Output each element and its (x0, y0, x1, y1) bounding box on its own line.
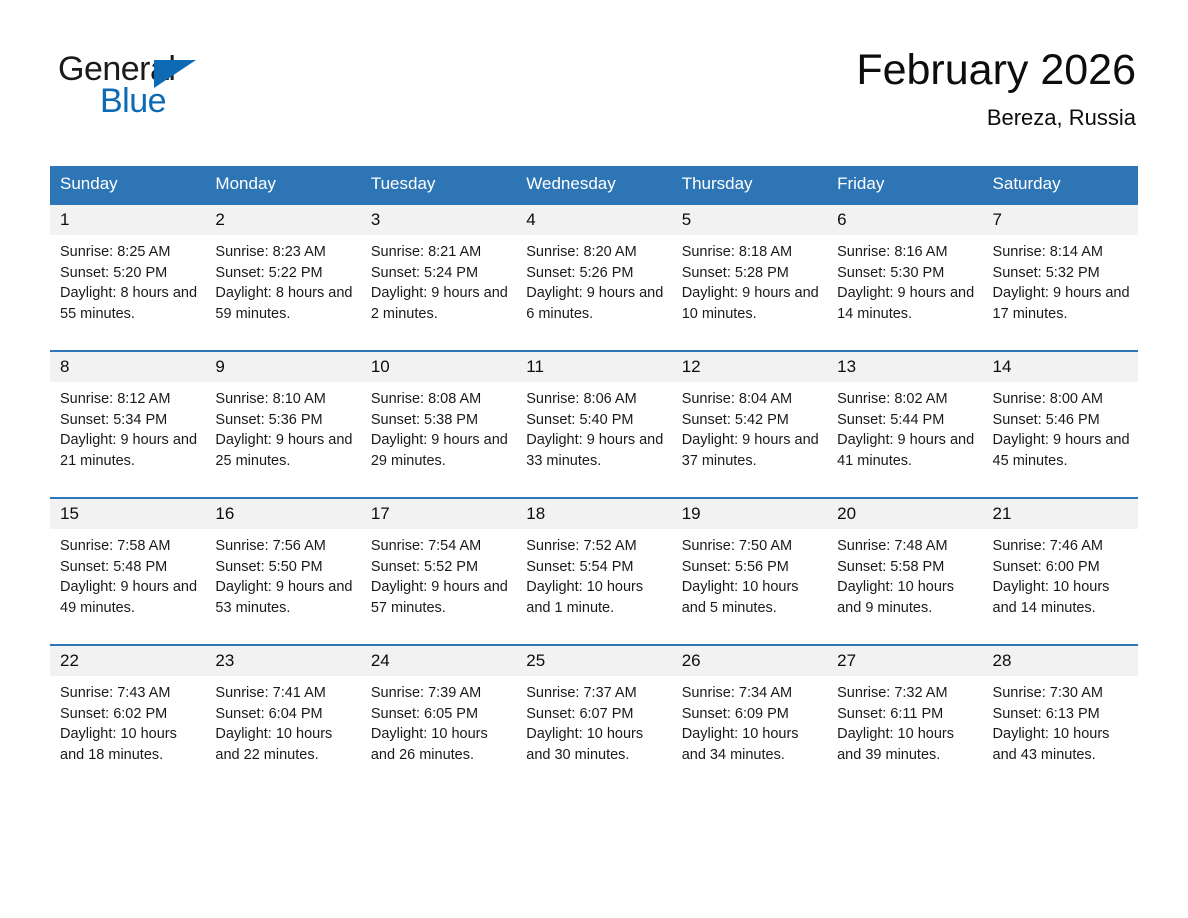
day-number: 7 (983, 205, 1138, 235)
daylight-text: Daylight: 10 hours and 43 minutes. (993, 724, 1130, 765)
calendar-week-row: 1 Sunrise: 8:25 AM Sunset: 5:20 PM Dayli… (50, 204, 1138, 351)
sunrise-text: Sunrise: 7:58 AM (60, 536, 197, 557)
daylight-text: Daylight: 10 hours and 39 minutes. (837, 724, 974, 765)
sunrise-text: Sunrise: 8:21 AM (371, 242, 508, 263)
day-details: Sunrise: 8:14 AM Sunset: 5:32 PM Dayligh… (983, 235, 1138, 324)
day-number: 12 (672, 352, 827, 382)
sunrise-text: Sunrise: 8:14 AM (993, 242, 1130, 263)
day-details: Sunrise: 7:46 AM Sunset: 6:00 PM Dayligh… (983, 529, 1138, 618)
sunrise-text: Sunrise: 8:02 AM (837, 389, 974, 410)
day-cell[interactable]: 7 Sunrise: 8:14 AM Sunset: 5:32 PM Dayli… (983, 204, 1138, 351)
daylight-text: Daylight: 9 hours and 21 minutes. (60, 430, 197, 471)
daylight-text: Daylight: 10 hours and 5 minutes. (682, 577, 819, 618)
day-cell[interactable]: 27 Sunrise: 7:32 AM Sunset: 6:11 PM Dayl… (827, 645, 982, 791)
calendar-header-row: Sunday Monday Tuesday Wednesday Thursday… (50, 166, 1138, 204)
sunrise-text: Sunrise: 7:43 AM (60, 683, 197, 704)
daylight-text: Daylight: 9 hours and 57 minutes. (371, 577, 508, 618)
day-number: 23 (205, 646, 360, 676)
day-number: 3 (361, 205, 516, 235)
day-details: Sunrise: 8:10 AM Sunset: 5:36 PM Dayligh… (205, 382, 360, 471)
day-details: Sunrise: 8:02 AM Sunset: 5:44 PM Dayligh… (827, 382, 982, 471)
sunrise-text: Sunrise: 8:18 AM (682, 242, 819, 263)
sunrise-text: Sunrise: 8:20 AM (526, 242, 663, 263)
sunrise-text: Sunrise: 8:06 AM (526, 389, 663, 410)
sunset-text: Sunset: 5:58 PM (837, 557, 974, 578)
day-details: Sunrise: 8:00 AM Sunset: 5:46 PM Dayligh… (983, 382, 1138, 471)
day-cell[interactable]: 16 Sunrise: 7:56 AM Sunset: 5:50 PM Dayl… (205, 498, 360, 645)
day-details: Sunrise: 7:48 AM Sunset: 5:58 PM Dayligh… (827, 529, 982, 618)
daylight-text: Daylight: 9 hours and 49 minutes. (60, 577, 197, 618)
day-details: Sunrise: 8:12 AM Sunset: 5:34 PM Dayligh… (50, 382, 205, 471)
day-details: Sunrise: 7:43 AM Sunset: 6:02 PM Dayligh… (50, 676, 205, 765)
day-number: 5 (672, 205, 827, 235)
sunrise-text: Sunrise: 8:12 AM (60, 389, 197, 410)
day-details: Sunrise: 7:54 AM Sunset: 5:52 PM Dayligh… (361, 529, 516, 618)
day-number: 21 (983, 499, 1138, 529)
day-cell[interactable]: 5 Sunrise: 8:18 AM Sunset: 5:28 PM Dayli… (672, 204, 827, 351)
day-details: Sunrise: 7:58 AM Sunset: 5:48 PM Dayligh… (50, 529, 205, 618)
day-number: 10 (361, 352, 516, 382)
page-title: February 2026 (856, 48, 1136, 93)
daylight-text: Daylight: 10 hours and 22 minutes. (215, 724, 352, 765)
day-details: Sunrise: 7:30 AM Sunset: 6:13 PM Dayligh… (983, 676, 1138, 765)
day-cell[interactable]: 6 Sunrise: 8:16 AM Sunset: 5:30 PM Dayli… (827, 204, 982, 351)
day-cell[interactable]: 19 Sunrise: 7:50 AM Sunset: 5:56 PM Dayl… (672, 498, 827, 645)
day-number: 1 (50, 205, 205, 235)
day-details: Sunrise: 7:39 AM Sunset: 6:05 PM Dayligh… (361, 676, 516, 765)
sunrise-text: Sunrise: 7:39 AM (371, 683, 508, 704)
weekday-header-saturday: Saturday (983, 166, 1138, 204)
day-details: Sunrise: 8:16 AM Sunset: 5:30 PM Dayligh… (827, 235, 982, 324)
daylight-text: Daylight: 9 hours and 6 minutes. (526, 283, 663, 324)
sunset-text: Sunset: 5:22 PM (215, 263, 352, 284)
day-number: 20 (827, 499, 982, 529)
day-number: 13 (827, 352, 982, 382)
sunset-text: Sunset: 6:09 PM (682, 704, 819, 725)
daylight-text: Daylight: 10 hours and 1 minute. (526, 577, 663, 618)
calendar-week-row: 22 Sunrise: 7:43 AM Sunset: 6:02 PM Dayl… (50, 645, 1138, 791)
daylight-text: Daylight: 9 hours and 29 minutes. (371, 430, 508, 471)
day-details: Sunrise: 8:08 AM Sunset: 5:38 PM Dayligh… (361, 382, 516, 471)
day-cell[interactable]: 18 Sunrise: 7:52 AM Sunset: 5:54 PM Dayl… (516, 498, 671, 645)
day-number: 28 (983, 646, 1138, 676)
daylight-text: Daylight: 8 hours and 59 minutes. (215, 283, 352, 324)
day-details: Sunrise: 8:23 AM Sunset: 5:22 PM Dayligh… (205, 235, 360, 324)
daylight-text: Daylight: 9 hours and 53 minutes. (215, 577, 352, 618)
day-number: 6 (827, 205, 982, 235)
sunrise-text: Sunrise: 8:16 AM (837, 242, 974, 263)
sunrise-text: Sunrise: 7:46 AM (993, 536, 1130, 557)
calendar-page: General Blue February 2026 Bereza, Russi… (0, 0, 1188, 918)
sunset-text: Sunset: 6:05 PM (371, 704, 508, 725)
page-header: General Blue February 2026 Bereza, Russi… (50, 0, 1138, 148)
sunset-text: Sunset: 5:44 PM (837, 410, 974, 431)
daylight-text: Daylight: 10 hours and 14 minutes. (993, 577, 1130, 618)
day-cell[interactable]: 25 Sunrise: 7:37 AM Sunset: 6:07 PM Dayl… (516, 645, 671, 791)
sunrise-text: Sunrise: 8:23 AM (215, 242, 352, 263)
day-number: 19 (672, 499, 827, 529)
weekday-header-friday: Friday (827, 166, 982, 204)
weekday-header-thursday: Thursday (672, 166, 827, 204)
sunrise-text: Sunrise: 7:56 AM (215, 536, 352, 557)
sunset-text: Sunset: 6:02 PM (60, 704, 197, 725)
sunrise-text: Sunrise: 7:54 AM (371, 536, 508, 557)
daylight-text: Daylight: 10 hours and 34 minutes. (682, 724, 819, 765)
sunset-text: Sunset: 5:54 PM (526, 557, 663, 578)
sunset-text: Sunset: 6:07 PM (526, 704, 663, 725)
day-cell[interactable]: 10 Sunrise: 8:08 AM Sunset: 5:38 PM Dayl… (361, 351, 516, 498)
sunset-text: Sunset: 5:46 PM (993, 410, 1130, 431)
sunrise-text: Sunrise: 7:37 AM (526, 683, 663, 704)
calendar-body: 1 Sunrise: 8:25 AM Sunset: 5:20 PM Dayli… (50, 204, 1138, 791)
sunrise-text: Sunrise: 8:04 AM (682, 389, 819, 410)
daylight-text: Daylight: 9 hours and 25 minutes. (215, 430, 352, 471)
day-number: 8 (50, 352, 205, 382)
daylight-text: Daylight: 9 hours and 17 minutes. (993, 283, 1130, 324)
daylight-text: Daylight: 8 hours and 55 minutes. (60, 283, 197, 324)
sunrise-text: Sunrise: 7:32 AM (837, 683, 974, 704)
sunset-text: Sunset: 6:11 PM (837, 704, 974, 725)
sunrise-text: Sunrise: 8:00 AM (993, 389, 1130, 410)
day-cell[interactable]: 4 Sunrise: 8:20 AM Sunset: 5:26 PM Dayli… (516, 204, 671, 351)
calendar-week-row: 15 Sunrise: 7:58 AM Sunset: 5:48 PM Dayl… (50, 498, 1138, 645)
sunset-text: Sunset: 5:40 PM (526, 410, 663, 431)
daylight-text: Daylight: 9 hours and 10 minutes. (682, 283, 819, 324)
sunrise-text: Sunrise: 7:50 AM (682, 536, 819, 557)
sunset-text: Sunset: 5:56 PM (682, 557, 819, 578)
calendar-table: Sunday Monday Tuesday Wednesday Thursday… (50, 166, 1138, 791)
sunrise-text: Sunrise: 8:10 AM (215, 389, 352, 410)
day-cell[interactable]: 17 Sunrise: 7:54 AM Sunset: 5:52 PM Dayl… (361, 498, 516, 645)
day-details: Sunrise: 8:04 AM Sunset: 5:42 PM Dayligh… (672, 382, 827, 471)
day-cell[interactable]: 3 Sunrise: 8:21 AM Sunset: 5:24 PM Dayli… (361, 204, 516, 351)
day-details: Sunrise: 8:25 AM Sunset: 5:20 PM Dayligh… (50, 235, 205, 324)
daylight-text: Daylight: 9 hours and 33 minutes. (526, 430, 663, 471)
logo-text-blue: Blue (100, 84, 166, 118)
day-number: 2 (205, 205, 360, 235)
day-number: 17 (361, 499, 516, 529)
sunset-text: Sunset: 5:48 PM (60, 557, 197, 578)
daylight-text: Daylight: 9 hours and 14 minutes. (837, 283, 974, 324)
day-cell[interactable]: 28 Sunrise: 7:30 AM Sunset: 6:13 PM Dayl… (983, 645, 1138, 791)
sunrise-text: Sunrise: 7:48 AM (837, 536, 974, 557)
day-details: Sunrise: 8:20 AM Sunset: 5:26 PM Dayligh… (516, 235, 671, 324)
sunset-text: Sunset: 5:20 PM (60, 263, 197, 284)
day-cell[interactable]: 2 Sunrise: 8:23 AM Sunset: 5:22 PM Dayli… (205, 204, 360, 351)
day-number: 27 (827, 646, 982, 676)
calendar-week-row: 8 Sunrise: 8:12 AM Sunset: 5:34 PM Dayli… (50, 351, 1138, 498)
sunrise-text: Sunrise: 8:08 AM (371, 389, 508, 410)
day-number: 25 (516, 646, 671, 676)
sunset-text: Sunset: 6:00 PM (993, 557, 1130, 578)
sunset-text: Sunset: 5:24 PM (371, 263, 508, 284)
day-cell[interactable]: 11 Sunrise: 8:06 AM Sunset: 5:40 PM Dayl… (516, 351, 671, 498)
daylight-text: Daylight: 10 hours and 30 minutes. (526, 724, 663, 765)
sunset-text: Sunset: 5:26 PM (526, 263, 663, 284)
day-cell[interactable]: 26 Sunrise: 7:34 AM Sunset: 6:09 PM Dayl… (672, 645, 827, 791)
day-cell[interactable]: 24 Sunrise: 7:39 AM Sunset: 6:05 PM Dayl… (361, 645, 516, 791)
sunset-text: Sunset: 5:50 PM (215, 557, 352, 578)
sunrise-text: Sunrise: 7:30 AM (993, 683, 1130, 704)
daylight-text: Daylight: 9 hours and 41 minutes. (837, 430, 974, 471)
day-details: Sunrise: 7:32 AM Sunset: 6:11 PM Dayligh… (827, 676, 982, 765)
day-cell[interactable]: 12 Sunrise: 8:04 AM Sunset: 5:42 PM Dayl… (672, 351, 827, 498)
day-number: 18 (516, 499, 671, 529)
day-details: Sunrise: 7:37 AM Sunset: 6:07 PM Dayligh… (516, 676, 671, 765)
sunrise-text: Sunrise: 7:52 AM (526, 536, 663, 557)
sunset-text: Sunset: 5:36 PM (215, 410, 352, 431)
sunset-text: Sunset: 5:52 PM (371, 557, 508, 578)
daylight-text: Daylight: 9 hours and 2 minutes. (371, 283, 508, 324)
day-number: 16 (205, 499, 360, 529)
day-details: Sunrise: 7:52 AM Sunset: 5:54 PM Dayligh… (516, 529, 671, 618)
day-cell[interactable]: 8 Sunrise: 8:12 AM Sunset: 5:34 PM Dayli… (50, 351, 205, 498)
day-number: 14 (983, 352, 1138, 382)
day-number: 24 (361, 646, 516, 676)
daylight-text: Daylight: 10 hours and 26 minutes. (371, 724, 508, 765)
weekday-header-tuesday: Tuesday (361, 166, 516, 204)
day-number: 11 (516, 352, 671, 382)
sunrise-text: Sunrise: 8:25 AM (60, 242, 197, 263)
day-cell[interactable]: 21 Sunrise: 7:46 AM Sunset: 6:00 PM Dayl… (983, 498, 1138, 645)
weekday-header-wednesday: Wednesday (516, 166, 671, 204)
day-number: 26 (672, 646, 827, 676)
day-cell[interactable]: 20 Sunrise: 7:48 AM Sunset: 5:58 PM Dayl… (827, 498, 982, 645)
weekday-header-sunday: Sunday (50, 166, 205, 204)
day-details: Sunrise: 8:06 AM Sunset: 5:40 PM Dayligh… (516, 382, 671, 471)
day-cell[interactable]: 1 Sunrise: 8:25 AM Sunset: 5:20 PM Dayli… (50, 204, 205, 351)
day-details: Sunrise: 7:50 AM Sunset: 5:56 PM Dayligh… (672, 529, 827, 618)
day-number: 15 (50, 499, 205, 529)
day-number: 9 (205, 352, 360, 382)
day-cell[interactable]: 23 Sunrise: 7:41 AM Sunset: 6:04 PM Dayl… (205, 645, 360, 791)
day-cell[interactable]: 15 Sunrise: 7:58 AM Sunset: 5:48 PM Dayl… (50, 498, 205, 645)
day-details: Sunrise: 8:18 AM Sunset: 5:28 PM Dayligh… (672, 235, 827, 324)
day-details: Sunrise: 8:21 AM Sunset: 5:24 PM Dayligh… (361, 235, 516, 324)
day-cell[interactable]: 9 Sunrise: 8:10 AM Sunset: 5:36 PM Dayli… (205, 351, 360, 498)
sunset-text: Sunset: 5:38 PM (371, 410, 508, 431)
weekday-header-monday: Monday (205, 166, 360, 204)
sunrise-text: Sunrise: 7:34 AM (682, 683, 819, 704)
day-details: Sunrise: 7:41 AM Sunset: 6:04 PM Dayligh… (205, 676, 360, 765)
daylight-text: Daylight: 10 hours and 9 minutes. (837, 577, 974, 618)
title-block: February 2026 Bereza, Russia (856, 48, 1138, 132)
sunset-text: Sunset: 5:34 PM (60, 410, 197, 431)
sunset-text: Sunset: 5:42 PM (682, 410, 819, 431)
sunset-text: Sunset: 6:04 PM (215, 704, 352, 725)
sunrise-text: Sunrise: 7:41 AM (215, 683, 352, 704)
day-details: Sunrise: 7:56 AM Sunset: 5:50 PM Dayligh… (205, 529, 360, 618)
day-cell[interactable]: 14 Sunrise: 8:00 AM Sunset: 5:46 PM Dayl… (983, 351, 1138, 498)
generalblue-logo[interactable]: General Blue (50, 48, 280, 124)
day-number: 4 (516, 205, 671, 235)
day-number: 22 (50, 646, 205, 676)
sunset-text: Sunset: 5:32 PM (993, 263, 1130, 284)
page-subtitle: Bereza, Russia (856, 105, 1136, 131)
sunset-text: Sunset: 6:13 PM (993, 704, 1130, 725)
sunset-text: Sunset: 5:28 PM (682, 263, 819, 284)
daylight-text: Daylight: 9 hours and 37 minutes. (682, 430, 819, 471)
sunset-text: Sunset: 5:30 PM (837, 263, 974, 284)
daylight-text: Daylight: 9 hours and 45 minutes. (993, 430, 1130, 471)
daylight-text: Daylight: 10 hours and 18 minutes. (60, 724, 197, 765)
day-cell[interactable]: 13 Sunrise: 8:02 AM Sunset: 5:44 PM Dayl… (827, 351, 982, 498)
day-details: Sunrise: 7:34 AM Sunset: 6:09 PM Dayligh… (672, 676, 827, 765)
day-cell[interactable]: 22 Sunrise: 7:43 AM Sunset: 6:02 PM Dayl… (50, 645, 205, 791)
